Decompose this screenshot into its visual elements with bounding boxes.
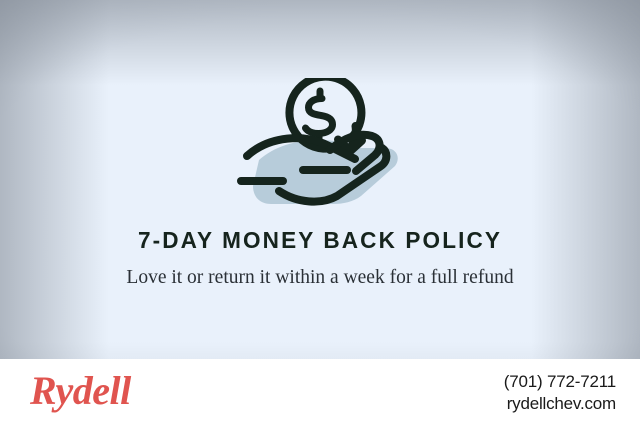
- promo-subtitle: Love it or return it within a week for a…: [120, 265, 520, 291]
- promo-text-block: 7-DAY MONEY BACK POLICY Love it or retur…: [0, 228, 640, 290]
- contact-info: (701) 772-7211 rydellchev.com: [504, 371, 616, 416]
- page-title: 7-DAY MONEY BACK POLICY: [67, 228, 574, 253]
- dollar-sign-icon: [306, 91, 333, 141]
- promo-card: 7-DAY MONEY BACK POLICY Love it or retur…: [0, 0, 640, 427]
- rydell-logo: Rydell: [30, 371, 131, 415]
- footer-bar: Rydell (701) 772-7211 rydellchev.com: [0, 359, 640, 427]
- website-url[interactable]: rydellchev.com: [504, 393, 616, 415]
- phone-number[interactable]: (701) 772-7211: [504, 371, 616, 393]
- icon-container: [0, 78, 640, 214]
- hand-holding-money-back-icon: [225, 78, 415, 214]
